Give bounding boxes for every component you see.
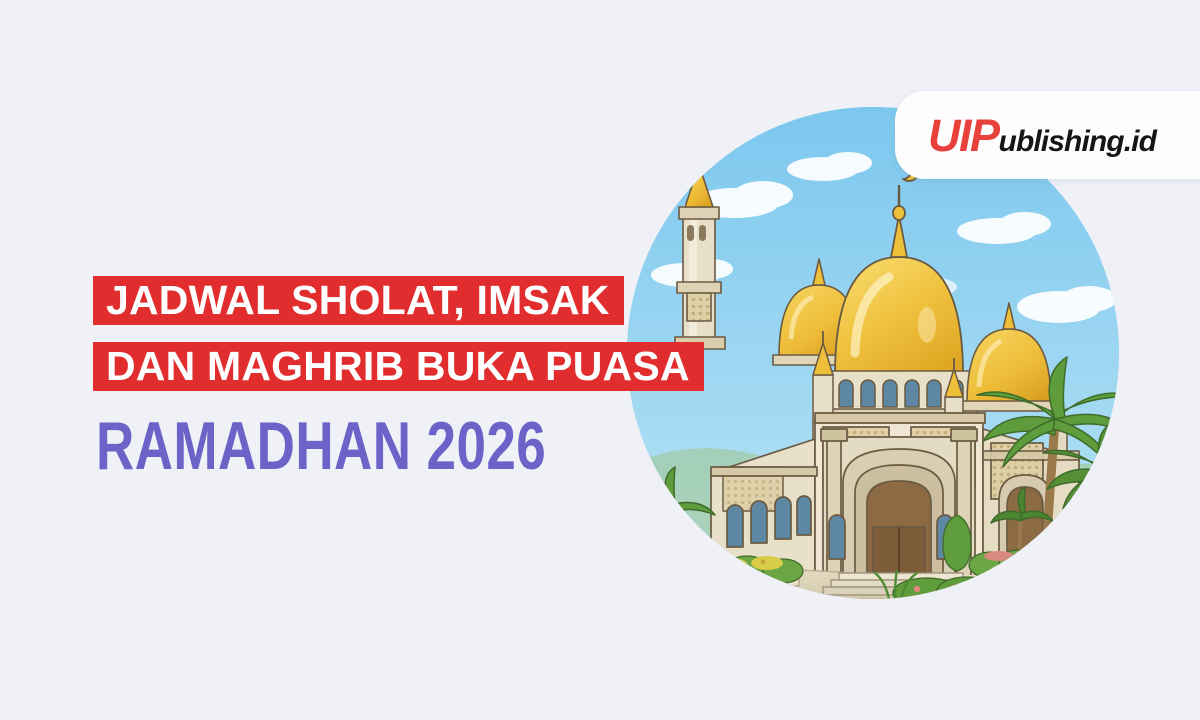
logo-wordmark: UIPublishing.id (928, 113, 1156, 158)
logo-uip-text: UIP (928, 110, 999, 161)
logo-ublishing-text: ublishing.id (999, 125, 1157, 158)
headline-block: JADWAL SHOLAT, IMSAK DAN MAGHRIB BUKA PU… (93, 276, 704, 391)
headline-line-1: JADWAL SHOLAT, IMSAK (93, 276, 624, 325)
headline-line-2: DAN MAGHRIB BUKA PUASA (93, 342, 704, 391)
headline-line-1-wrap: JADWAL SHOLAT, IMSAK (93, 276, 704, 325)
banner-canvas: JADWAL SHOLAT, IMSAK DAN MAGHRIB BUKA PU… (0, 0, 1200, 720)
logo-badge[interactable]: UIPublishing.id (895, 91, 1200, 179)
subtitle-ramadhan-year: RAMADHAN 2026 (96, 409, 546, 483)
headline-line-2-wrap: DAN MAGHRIB BUKA PUASA (93, 342, 704, 391)
